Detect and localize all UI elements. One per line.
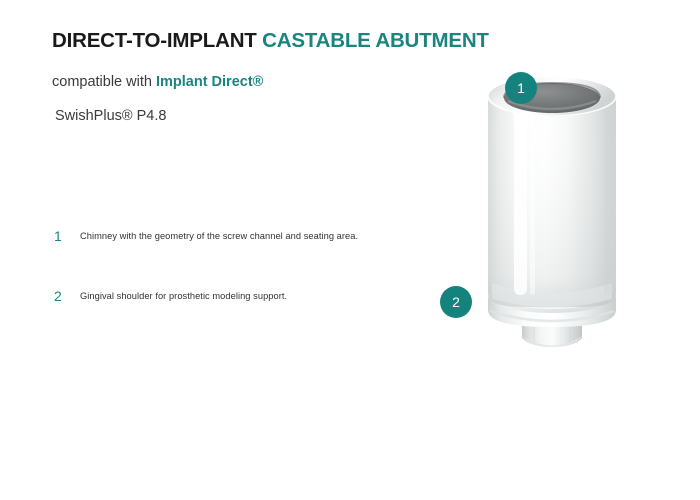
compatibility-line: compatible with Implant Direct® — [52, 72, 263, 92]
legend-text-2: Gingival shoulder for prosthetic modelin… — [80, 288, 454, 304]
legend-text-1: Chimney with the geometry of the screw c… — [80, 228, 454, 244]
legend-item-1: 1 Chimney with the geometry of the screw… — [54, 228, 454, 248]
callout-badge-2-label: 2 — [452, 295, 460, 309]
page-title: DIRECT-TO-IMPLANT CASTABLE ABUTMENT — [52, 28, 452, 54]
legend-list: 1 Chimney with the geometry of the screw… — [54, 228, 454, 348]
compatibility-brand: Implant Direct® — [156, 74, 263, 90]
abutment-render-svg — [400, 55, 660, 375]
callout-badge-1[interactable]: 1 — [505, 72, 537, 104]
page-title-main: DIRECT-TO-IMPLANT — [52, 29, 257, 52]
page-title-accent: CASTABLE ABUTMENT — [262, 29, 489, 52]
callout-badge-2[interactable]: 2 — [440, 286, 472, 318]
abutment-chimney-shaft — [488, 97, 616, 307]
product-illustration — [400, 55, 660, 375]
model-line: SwishPlus® P4.8 — [55, 106, 166, 126]
legend-item-2: 2 Gingival shoulder for prosthetic model… — [54, 288, 454, 308]
legend-number-1: 1 — [54, 228, 74, 244]
callout-badge-1-label: 1 — [517, 81, 525, 95]
header-text-block: DIRECT-TO-IMPLANT CASTABLE ABUTMENT comp… — [52, 28, 452, 54]
compatibility-prefix: compatible with — [52, 74, 152, 90]
legend-number-2: 2 — [54, 288, 74, 304]
